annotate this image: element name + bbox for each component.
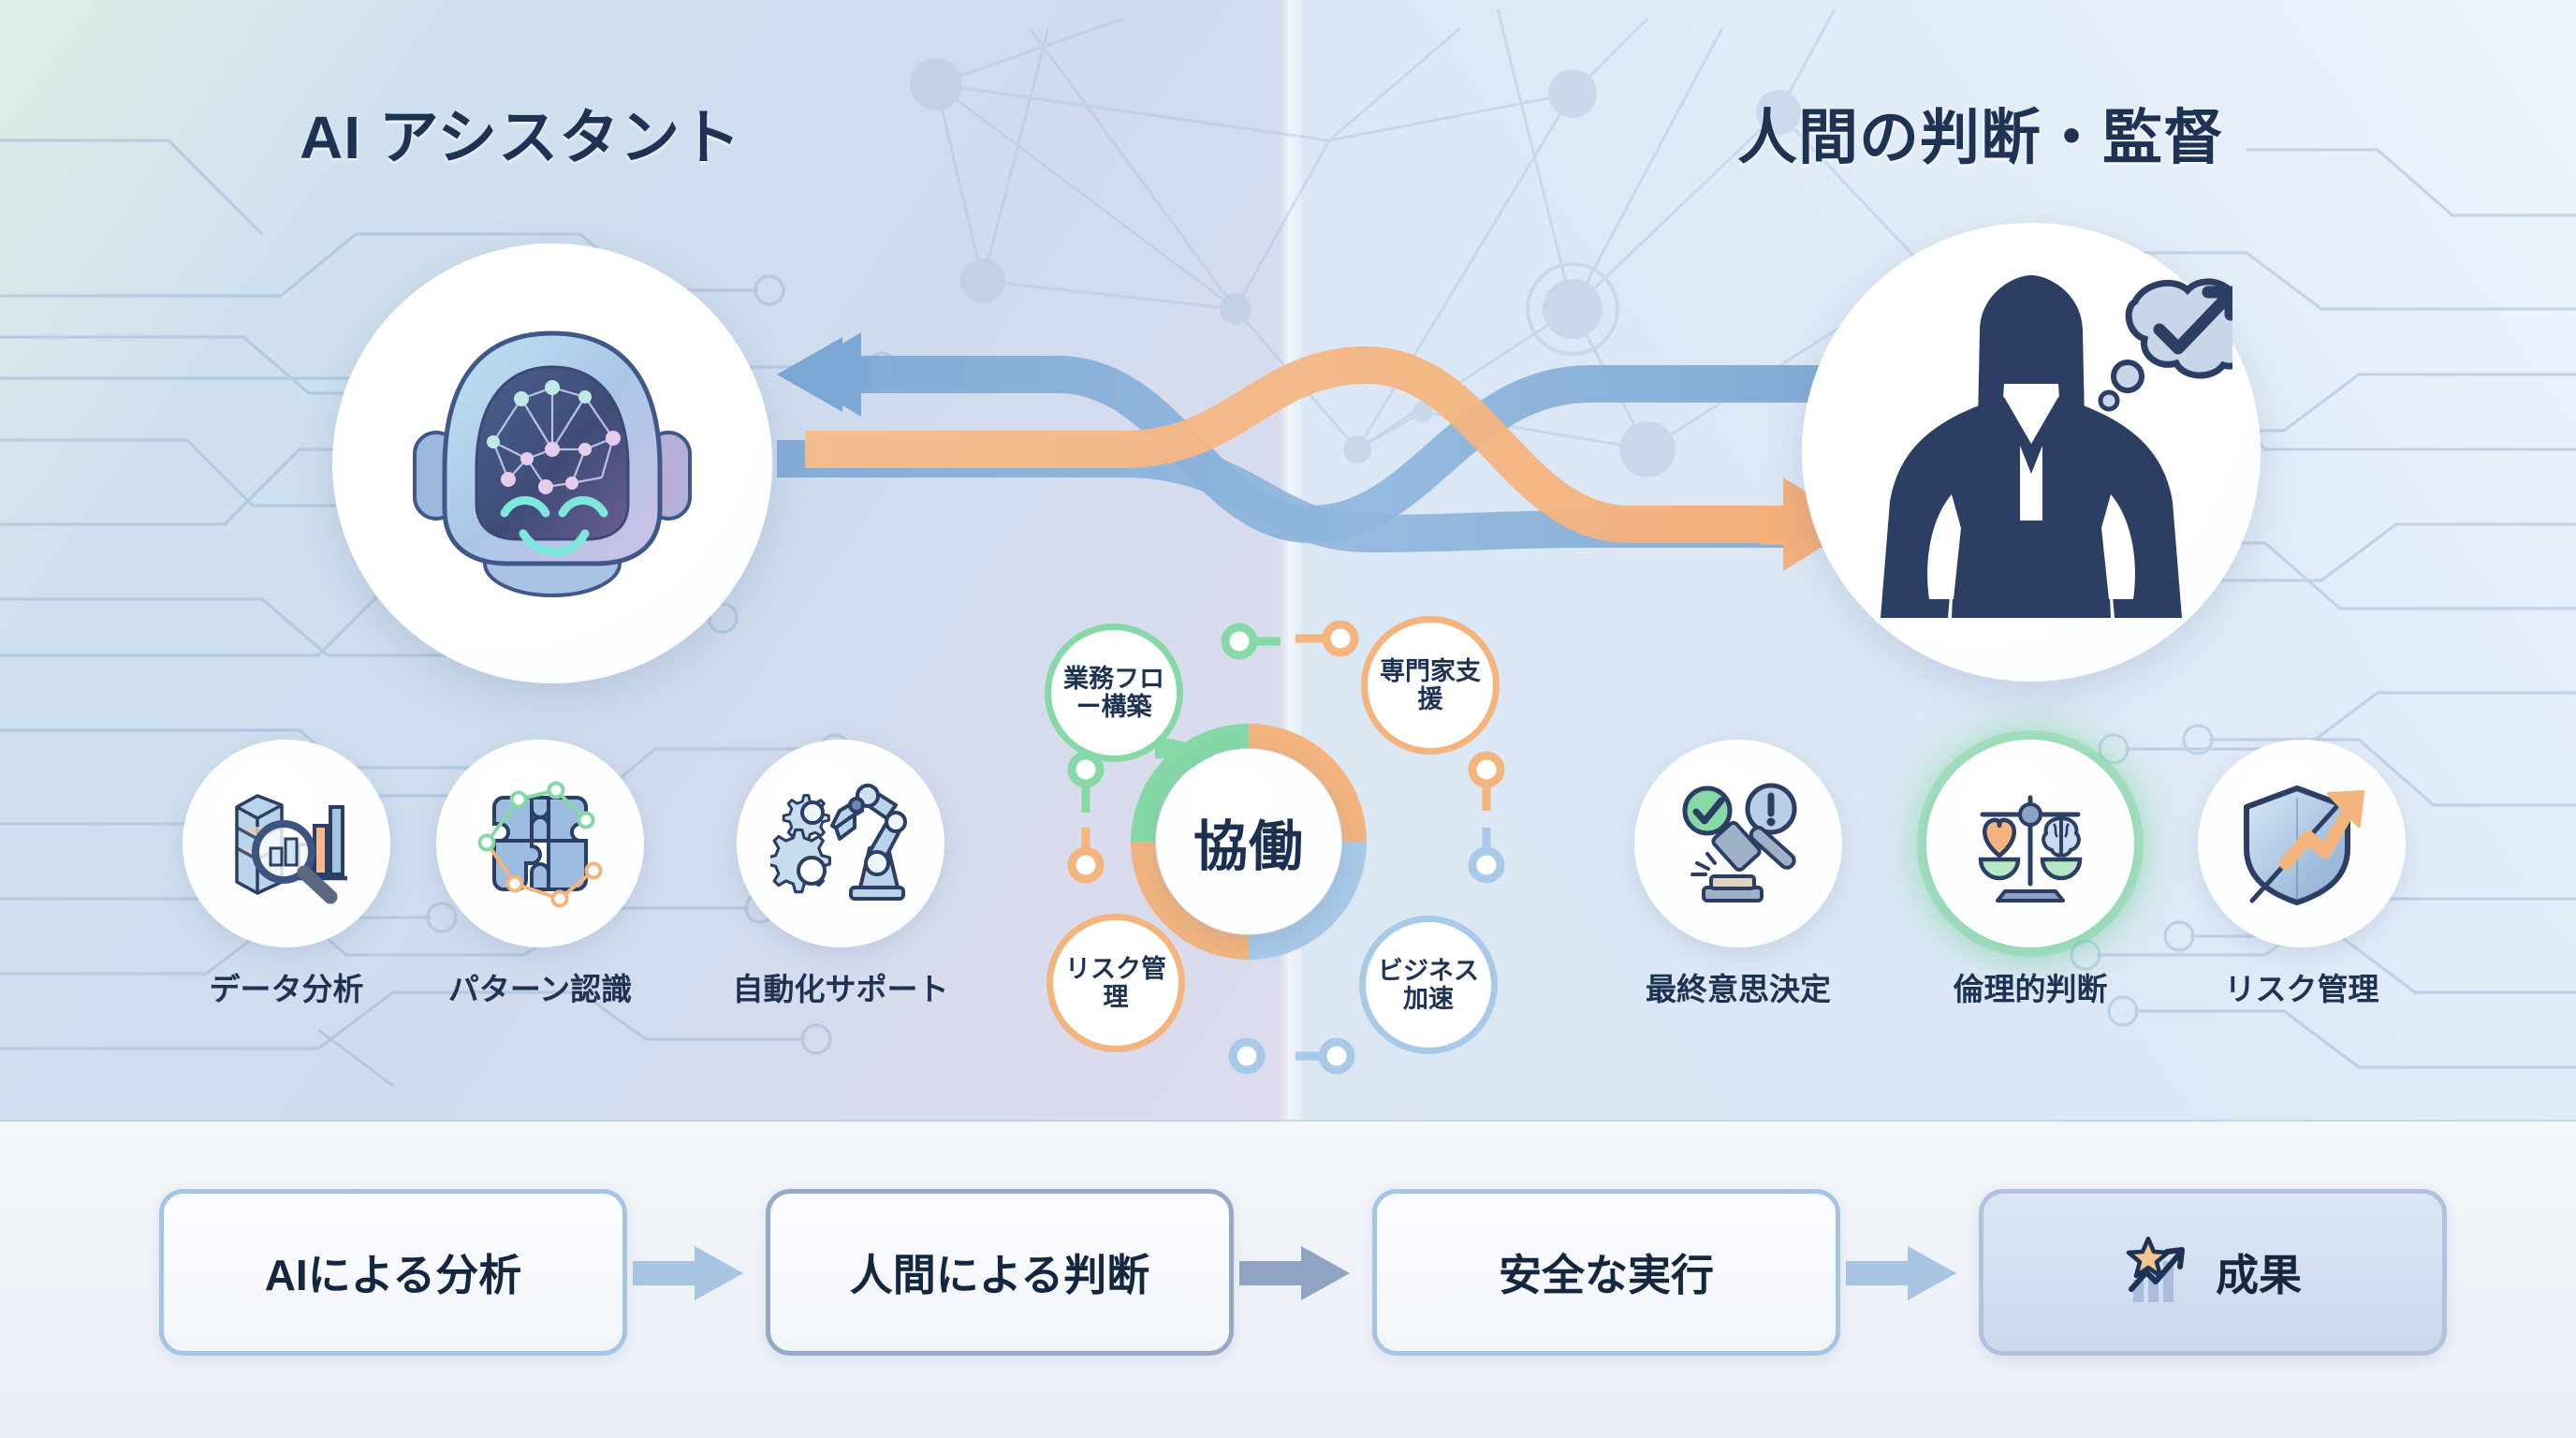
flow-step-safe-execution[interactable]: 安全な実行 — [1372, 1189, 1840, 1356]
flow-step-label: 成果 — [2216, 1241, 2302, 1303]
scales-heart-brain-icon — [1960, 773, 2100, 914]
flow-step-label: 人間による判断 — [850, 1241, 1150, 1303]
ai-avatar — [332, 243, 772, 683]
satellite-label: ビジネス加速 — [1359, 916, 1498, 1054]
robot-head-neural-icon — [398, 309, 707, 618]
feature-label: パターン認識 — [380, 964, 700, 1009]
feature-icon-circle — [1634, 740, 1842, 947]
gavel-check-alert-icon — [1668, 773, 1808, 914]
flow-step-label: AIによる分析 — [265, 1241, 522, 1303]
page-title-ai: AI アシスタント — [300, 90, 741, 176]
page-title-human: 人間の判断・監督 — [1737, 90, 2224, 176]
human-feature-final-decision[interactable]: 最終意思決定 — [1634, 740, 1842, 947]
feature-label: 自動化サポート — [681, 964, 1001, 1009]
feature-icon-circle — [737, 740, 944, 947]
ai-feature-pattern-recognition[interactable]: パターン認識 — [436, 740, 644, 947]
right-arrow-icon — [1846, 1246, 1956, 1300]
hub-satellite-business-acceleration[interactable]: ビジネス加速 — [1359, 916, 1498, 1054]
thought-bubble-check-growth-icon — [2100, 282, 2232, 409]
ai-feature-automation-support[interactable]: 自動化サポート — [737, 740, 944, 947]
feature-icon-circle — [436, 740, 644, 947]
flow-step-human-judgement[interactable]: 人間による判断 — [766, 1189, 1234, 1356]
satellite-label: 専門家支援 — [1361, 616, 1500, 755]
star-growth-chart-icon — [2124, 1237, 2195, 1308]
human-avatar — [1802, 223, 2261, 682]
hub-satellite-expert-support[interactable]: 専門家支援 — [1361, 616, 1500, 755]
satellite-label: 業務フロー構築 — [1045, 624, 1183, 762]
infographic-canvas: AI アシスタント 人間の判断・監督 — [0, 0, 2576, 1438]
businesswoman-silhouette-icon — [1830, 251, 2232, 653]
hub-satellite-workflow[interactable]: 業務フロー構築 — [1045, 624, 1183, 762]
flow-step-outcome[interactable]: 成果 — [1979, 1189, 2447, 1356]
collaboration-hub[interactable]: 協働 — [1156, 749, 1341, 934]
human-feature-ethical-judgement[interactable]: 倫理的判断 — [1926, 740, 2134, 947]
hub-label: 協働 — [1193, 802, 1304, 881]
hub-circle: 協働 — [1156, 749, 1341, 934]
human-feature-risk-management[interactable]: リスク管理 — [2198, 740, 2406, 947]
feature-icon-circle — [1926, 740, 2134, 947]
right-arrow-icon — [633, 1246, 743, 1300]
feature-label: 最終意思決定 — [1578, 964, 1898, 1009]
puzzle-node-graph-icon — [470, 773, 610, 914]
database-magnifier-barchart-icon — [216, 773, 357, 914]
satellite-label: リスク管理 — [1046, 914, 1185, 1052]
feature-label: リスク管理 — [2142, 964, 2462, 1009]
feature-icon-circle — [183, 740, 390, 947]
ai-feature-data-analysis[interactable]: データ分析 — [183, 740, 390, 947]
gears-robotic-arm-icon — [770, 773, 911, 914]
process-flow: AIによる分析 人間による判断 安全な実行 成果 — [0, 1122, 2576, 1438]
flow-step-ai-analysis[interactable]: AIによる分析 — [159, 1189, 627, 1356]
right-arrow-icon — [1239, 1246, 1350, 1300]
flow-step-label: 安全な実行 — [1499, 1241, 1714, 1303]
shield-growth-arrow-icon — [2232, 773, 2372, 914]
feature-icon-circle — [2198, 740, 2406, 947]
hub-satellite-risk-management[interactable]: リスク管理 — [1046, 914, 1185, 1052]
